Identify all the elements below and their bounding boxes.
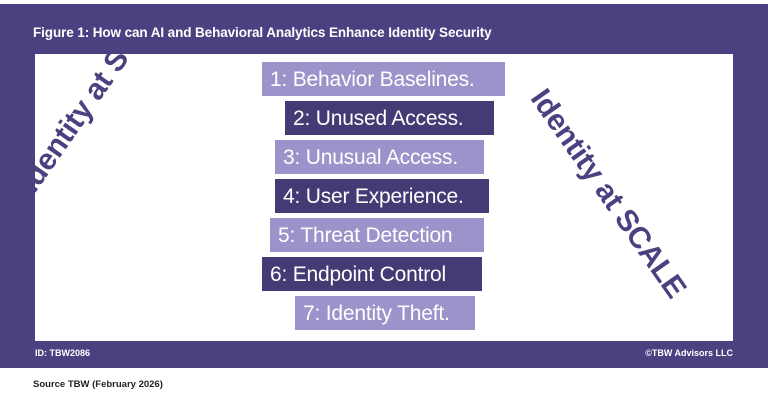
list-item: 3: Unusual Access. (275, 140, 484, 174)
list-item-label: 2: Unused Access. (293, 108, 464, 129)
figure-title: Figure 1: How can AI and Behavioral Anal… (33, 25, 733, 40)
list-item-label: 4: User Experience. (283, 186, 464, 207)
list-item: 6: Endpoint Control (262, 257, 482, 291)
copyright-notice: ©TBW Advisors LLC (645, 348, 733, 358)
figure-frame: Figure 1: How can AI and Behavioral Anal… (0, 4, 768, 368)
list-item-label: 1: Behavior Baselines. (270, 69, 475, 90)
source-note: Source TBW (February 2026) (33, 379, 163, 390)
figure-screenshot: Figure 1: How can AI and Behavioral Anal… (0, 0, 768, 401)
figure-content-panel: Identity at SCALE Identity at SCALE 1: B… (35, 54, 733, 341)
list-item-label: 6: Endpoint Control (270, 264, 446, 285)
list-item: 4: User Experience. (275, 179, 489, 213)
list-item-label: 5: Threat Detection (278, 225, 452, 246)
list-item: 5: Threat Detection (270, 218, 484, 252)
bar-list: 1: Behavior Baselines. 2: Unused Access.… (35, 54, 733, 341)
figure-id: ID: TBW2086 (35, 348, 90, 358)
list-item-label: 3: Unusual Access. (283, 147, 458, 168)
list-item: 1: Behavior Baselines. (262, 62, 505, 96)
list-item-label: 7: Identity Theft. (303, 303, 450, 324)
list-item: 2: Unused Access. (285, 101, 494, 135)
list-item: 7: Identity Theft. (295, 296, 475, 330)
